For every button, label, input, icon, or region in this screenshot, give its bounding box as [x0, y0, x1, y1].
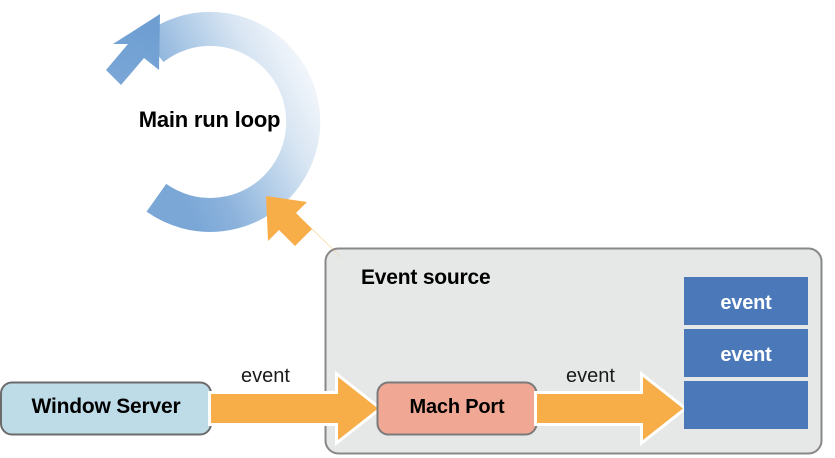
- arrow-label-window-server-to-mach-port: event: [241, 366, 290, 386]
- event-block-1-label: event: [684, 292, 808, 315]
- run-loop-label: Main run loop: [0, 109, 419, 131]
- window-server-label: Window Server: [0, 396, 212, 417]
- event-source-label: Event source: [361, 267, 491, 288]
- diagram-graphics: [0, 0, 835, 458]
- run-loop-arrowhead: [106, 14, 160, 85]
- diagram-canvas: Main run loop Event source Window Server…: [0, 0, 835, 458]
- event-block-3[interactable]: [684, 381, 808, 429]
- event-block-2-label: event: [684, 344, 808, 367]
- arrow-window-server-to-mach-port: [211, 377, 378, 440]
- mach-port-label: Mach Port: [378, 397, 536, 417]
- arrow-label-mach-port-to-event-queue: event: [566, 366, 615, 386]
